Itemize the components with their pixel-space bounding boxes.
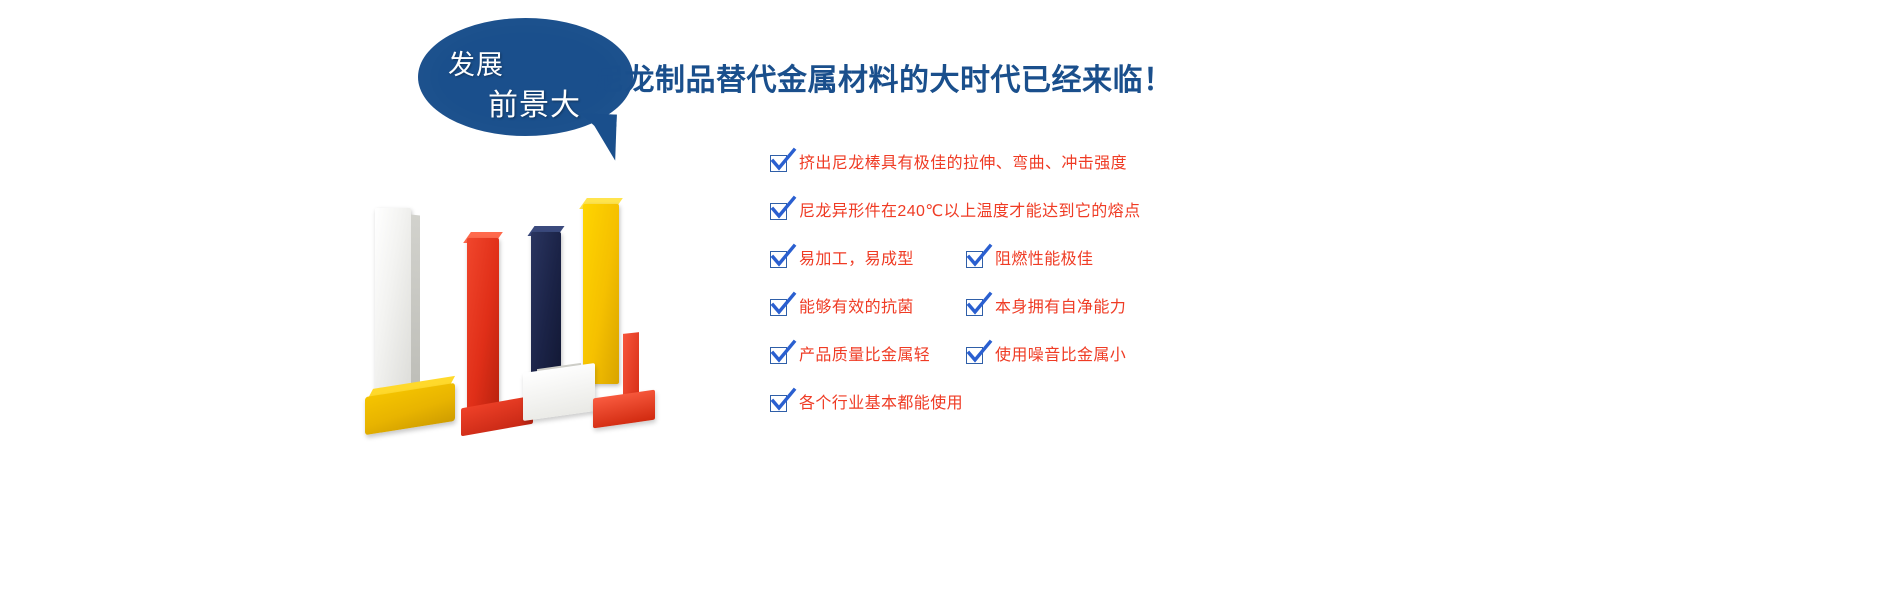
feature-item: 各个行业基本都能使用 bbox=[770, 395, 963, 412]
feature-row: 各个行业基本都能使用 bbox=[770, 395, 1390, 443]
checkbox-checked-icon bbox=[770, 251, 787, 268]
feature-label: 各个行业基本都能使用 bbox=[799, 396, 963, 412]
check-mark-icon bbox=[770, 341, 796, 367]
feature-label: 尼龙异形件在240℃以上温度才能达到它的熔点 bbox=[799, 204, 1140, 220]
feature-row: 易加工，易成型阻燃性能极佳 bbox=[770, 251, 1390, 299]
feature-label: 使用噪音比金属小 bbox=[995, 348, 1126, 364]
feature-row: 能够有效的抗菌本身拥有自净能力 bbox=[770, 299, 1390, 347]
feature-row: 产品质量比金属轻使用噪音比金属小 bbox=[770, 347, 1390, 395]
feature-row: 尼龙异形件在240℃以上温度才能达到它的熔点 bbox=[770, 203, 1390, 251]
product-photo bbox=[355, 190, 695, 455]
feature-item: 本身拥有自净能力 bbox=[966, 299, 1126, 316]
photo-piece-white-slab-side bbox=[411, 215, 420, 404]
checkbox-checked-icon bbox=[770, 299, 787, 316]
feature-label: 本身拥有自净能力 bbox=[995, 300, 1126, 316]
photo-piece-white-u-channel bbox=[523, 363, 595, 421]
photo-piece-red-angle-horiz bbox=[593, 390, 655, 429]
feature-item: 挤出尼龙棒具有极佳的拉伸、弯曲、冲击强度 bbox=[770, 155, 1127, 172]
check-mark-icon bbox=[770, 149, 796, 175]
speech-bubble-line-1: 发展 bbox=[448, 43, 504, 82]
photo-piece-yellow-bar bbox=[583, 204, 619, 384]
feature-item: 使用噪音比金属小 bbox=[966, 347, 1126, 364]
promo-banner: 发展 前景大 尼龙制品替代金属材料的大时代已经来临！ 挤出尼龙棒具有极佳的拉伸、… bbox=[0, 0, 1902, 592]
checkbox-checked-icon bbox=[966, 299, 983, 316]
checkbox-checked-icon bbox=[770, 155, 787, 172]
checkbox-checked-icon bbox=[770, 395, 787, 412]
photo-piece-red-bar bbox=[467, 238, 499, 413]
check-mark-icon bbox=[966, 245, 992, 271]
feature-label: 能够有效的抗菌 bbox=[799, 300, 914, 316]
speech-bubble-line-2: 前景大 bbox=[488, 80, 581, 124]
feature-list: 挤出尼龙棒具有极佳的拉伸、弯曲、冲击强度尼龙异形件在240℃以上温度才能达到它的… bbox=[770, 155, 1390, 443]
check-mark-icon bbox=[966, 293, 992, 319]
check-mark-icon bbox=[770, 293, 796, 319]
feature-label: 易加工，易成型 bbox=[799, 252, 914, 268]
check-mark-icon bbox=[770, 389, 796, 415]
checkbox-checked-icon bbox=[770, 347, 787, 364]
page-title: 尼龙制品替代金属材料的大时代已经来临！ bbox=[594, 55, 1174, 99]
feature-label: 挤出尼龙棒具有极佳的拉伸、弯曲、冲击强度 bbox=[799, 156, 1127, 172]
feature-item: 易加工，易成型 bbox=[770, 251, 914, 268]
feature-item: 尼龙异形件在240℃以上温度才能达到它的熔点 bbox=[770, 203, 1140, 220]
checkbox-checked-icon bbox=[966, 251, 983, 268]
feature-label: 产品质量比金属轻 bbox=[799, 348, 930, 364]
check-mark-icon bbox=[966, 341, 992, 367]
checkbox-checked-icon bbox=[770, 203, 787, 220]
feature-item: 阻燃性能极佳 bbox=[966, 251, 1093, 268]
check-mark-icon bbox=[770, 245, 796, 271]
photo-piece-navy-bar bbox=[531, 232, 561, 377]
checkbox-checked-icon bbox=[966, 347, 983, 364]
feature-label: 阻燃性能极佳 bbox=[995, 252, 1093, 268]
feature-item: 产品质量比金属轻 bbox=[770, 347, 930, 364]
feature-item: 能够有效的抗菌 bbox=[770, 299, 914, 316]
check-mark-icon bbox=[770, 197, 796, 223]
photo-piece-white-slab bbox=[375, 208, 411, 403]
feature-row: 挤出尼龙棒具有极佳的拉伸、弯曲、冲击强度 bbox=[770, 155, 1390, 203]
